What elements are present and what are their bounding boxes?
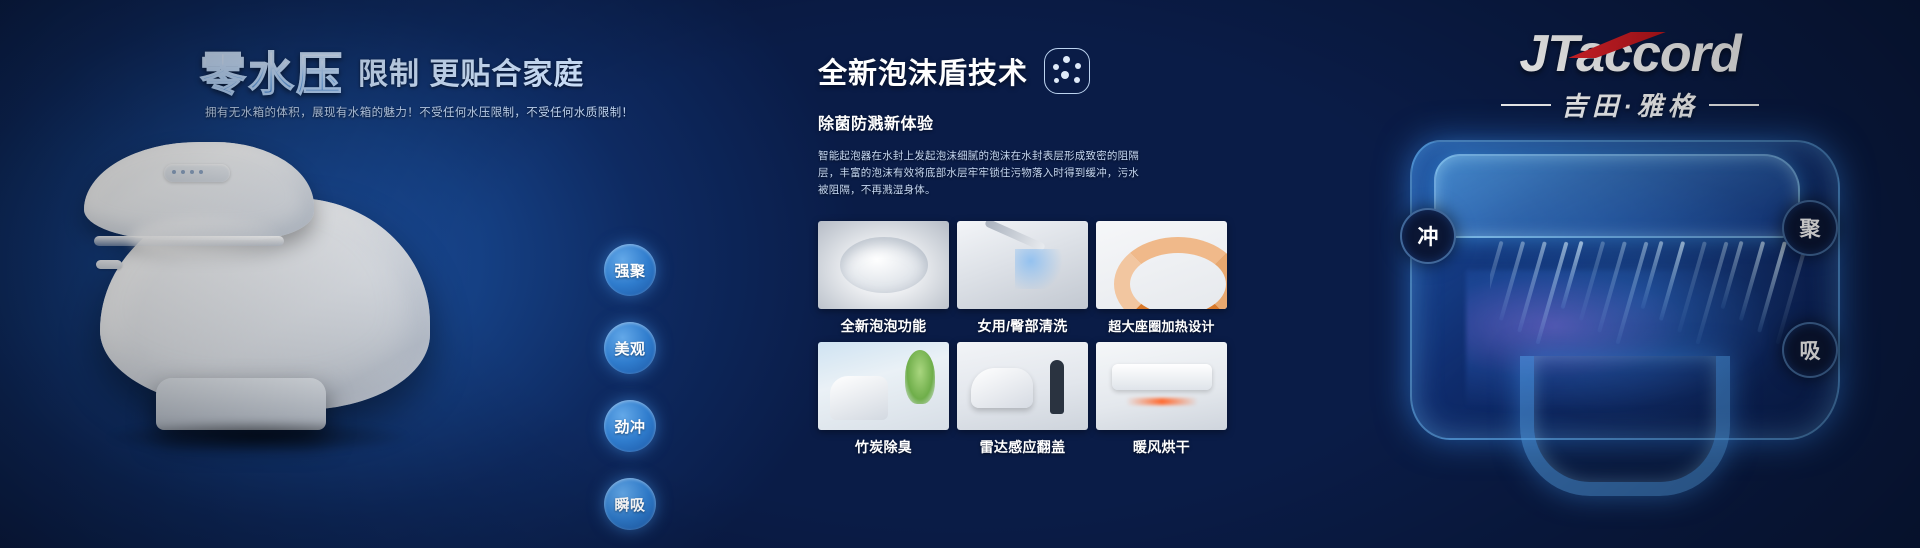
center-title: 全新泡沫盾技术 [818,50,1028,92]
xray-trapway [1520,356,1730,496]
headline: 零水压限制 更贴合家庭 [200,38,584,104]
feature-card-0[interactable]: 全新泡泡功能 [818,221,949,336]
feature-thumbnail-1 [957,221,1088,309]
toilet-side-button [96,260,122,269]
feature-thumbnail-4 [957,342,1088,430]
feature-caption-4: 雷达感应翻盖 [957,437,1088,457]
toilet-highlight [130,216,280,260]
feature-caption-5: 暖风烘干 [1096,437,1227,457]
feature-card-1[interactable]: 女用/臀部清洗 [957,221,1088,336]
feature-caption-0: 全新泡泡功能 [818,316,949,336]
feature-caption-3: 竹炭除臭 [818,437,949,457]
feature-grid: 全新泡泡功能 女用/臀部清洗 超大座圈加热设计 竹炭除臭 雷 [818,221,1228,457]
badge-ju[interactable]: 聚 [1782,200,1838,256]
product-banner: 零水压限制 更贴合家庭 拥有无水箱的体积，展现有水箱的魅力！不受任何水压限制，不… [0,0,1920,548]
center-panel: 全新泡沫盾技术 除菌防溅新体验 智能起泡器在水封上发起泡沫细腻的泡沫在水封表层形… [818,0,1338,548]
brand-logo[interactable]: JTaccord 吉田·雅格 [1460,28,1800,123]
badge-chong[interactable]: 冲 [1400,208,1456,264]
feature-pill-0[interactable]: 强聚 [604,244,656,296]
headline-main: 零水压 [200,38,344,104]
right-panel: JTaccord 吉田·雅格 [1340,0,1920,548]
feature-grid-row-2: 竹炭除臭 雷达感应翻盖 暖风烘干 [818,342,1228,457]
feature-pill-2[interactable]: 劲冲 [604,400,656,452]
feature-pill-list: 强聚 美观 劲冲 瞬吸 [604,244,656,548]
logo-rule-left [1501,104,1551,106]
logo-rule-right [1709,104,1759,106]
feature-grid-row-1: 全新泡泡功能 女用/臀部清洗 超大座圈加热设计 [818,221,1228,336]
feature-thumbnail-5 [1096,342,1227,430]
feature-caption-1: 女用/臀部清洗 [957,316,1088,336]
lead-paragraph: 拥有无水箱的体积，展现有水箱的魅力！不受任何水压限制，不受任何水质限制！ [205,104,625,120]
feature-thumbnail-3 [818,342,949,430]
feature-card-5[interactable]: 暖风烘干 [1096,342,1227,457]
feature-thumbnail-2 [1096,221,1227,309]
center-paragraph: 智能起泡器在水封上发起泡沫细腻的泡沫在水封表层形成致密的阻隔层，丰富的泡沫有效将… [818,148,1148,199]
brand-logo-wordmark: JTaccord [1519,28,1740,80]
feature-caption-2: 超大座圈加热设计 [1096,316,1227,335]
feature-pill-3[interactable]: 瞬吸 [604,478,656,530]
xray-toilet-illustration [1370,120,1900,520]
xray-jet-ribs [1490,240,1820,350]
feature-card-4[interactable]: 雷达感应翻盖 [957,342,1088,457]
xray-lid [1434,154,1800,238]
feature-pill-1[interactable]: 美观 [604,322,656,374]
feature-card-2[interactable]: 超大座圈加热设计 [1096,221,1227,336]
brand-logo-cn: 吉田·雅格 [1561,86,1699,123]
badge-xi[interactable]: 吸 [1782,322,1838,378]
brand-logo-cn-row: 吉田·雅格 [1460,86,1800,123]
center-subtitle: 除菌防溅新体验 [818,110,1338,134]
feature-thumbnail-0 [818,221,949,309]
toilet-indicator-dots [172,170,203,174]
bubble-shield-icon [1044,48,1090,94]
feature-card-3[interactable]: 竹炭除臭 [818,342,949,457]
left-panel: 零水压限制 更贴合家庭 拥有无水箱的体积，展现有水箱的魅力！不受任何水压限制，不… [0,0,660,548]
toilet-shadow [108,420,408,454]
smart-toilet-photo [60,120,480,450]
center-heading-row: 全新泡沫盾技术 [818,48,1338,94]
headline-sub: 限制 更贴合家庭 [358,49,584,93]
